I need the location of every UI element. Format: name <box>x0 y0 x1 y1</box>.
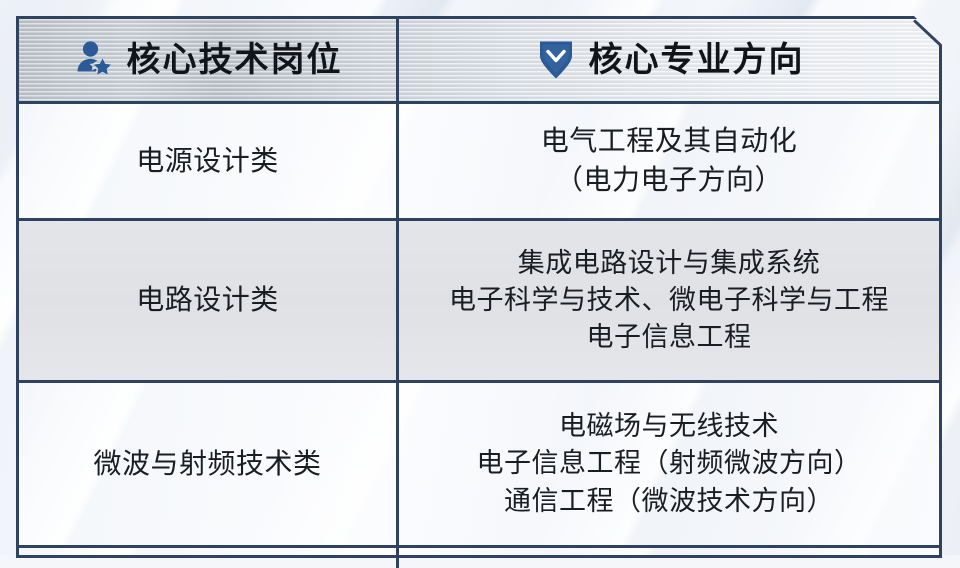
cell-major-text: 集成电路设计与集成系统 电子科学与技术、微电子科学与工程 电子信息工程 <box>449 245 889 357</box>
diamond-icon <box>537 37 575 84</box>
cell-position-text: 电源设计类 <box>136 142 279 181</box>
cell-major: 电磁场与无线技术 电子信息工程（射频微波方向） 通信工程（微波技术方向） <box>399 383 939 545</box>
cell-major: 电气工程及其自动化 （电力电子方向） <box>399 104 939 218</box>
header-cell-major: 核心专业方向 <box>399 19 942 101</box>
table-row: 电源设计类 电气工程及其自动化 （电力电子方向） <box>16 104 942 221</box>
table-header-row: 核心技术岗位 核心专业方向 <box>16 16 942 104</box>
header-cell-position: 核心技术岗位 <box>19 19 399 101</box>
cell-position: 微波与射频技术类 <box>19 383 399 545</box>
cell-position: 电源设计类 <box>19 104 399 218</box>
cell-major-text: 电气工程及其自动化 （电力电子方向） <box>541 122 798 199</box>
table-row: 微波与射频技术类 电磁场与无线技术 电子信息工程（射频微波方向） 通信工程（微波… <box>16 383 942 548</box>
table-row: 电路设计类 集成电路设计与集成系统 电子科学与技术、微电子科学与工程 电子信息工… <box>16 221 942 383</box>
cell-major-text: 电磁场与无线技术 电子信息工程（射频微波方向） 通信工程（微波技术方向） <box>477 408 862 520</box>
header-label-major: 核心专业方向 <box>589 43 805 77</box>
cell-position: 电路设计类 <box>19 221 399 380</box>
cell-major: 集成电路设计与集成系统 电子科学与技术、微电子科学与工程 电子信息工程 <box>399 221 939 380</box>
cell-position-text: 微波与射频技术类 <box>93 445 321 484</box>
cell-major <box>399 548 939 568</box>
cell-position <box>19 548 399 568</box>
user-star-icon <box>73 38 113 83</box>
cell-position-text: 电路设计类 <box>136 281 279 320</box>
table-row-partial <box>16 548 942 558</box>
header-label-position: 核心技术岗位 <box>127 43 343 77</box>
majors-table: 核心技术岗位 核心专业方向 电源设计类 电气工程及其自动化 （电力电子方向） <box>16 16 942 558</box>
